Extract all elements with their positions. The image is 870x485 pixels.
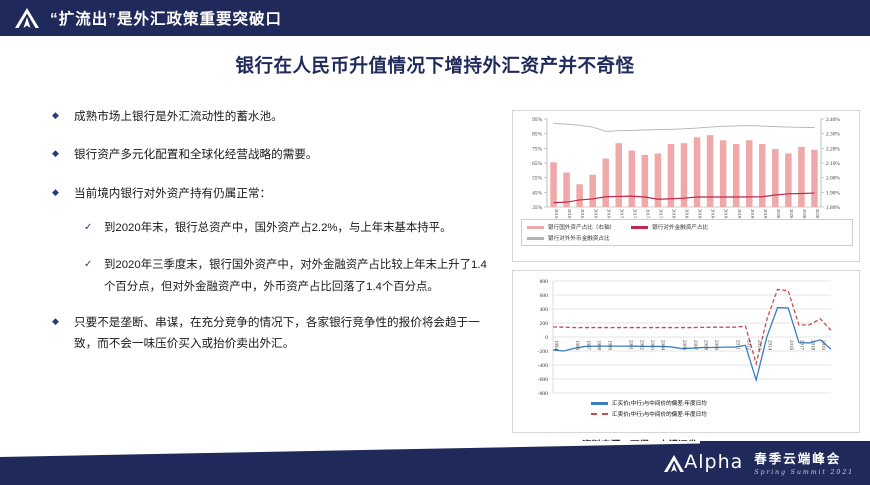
svg-text:2007: 2007 [692,340,697,351]
svg-text:1994: 1994 [553,340,558,351]
footer-wedge-decoration [0,441,700,457]
sub-bullet-text: 到2020年末，银行总资产中，国外资产占2.2%，与上年末基本持平。 [104,217,492,239]
bullet-item: ◆ 成熟市场上银行是外汇流动性的蓄水池。 [52,106,492,127]
svg-text:2017: 2017 [799,340,804,351]
brand-cn-subtitle: Spring Summit 2021 [754,468,854,476]
svg-text:2011: 2011 [735,340,740,350]
svg-text:2.00%: 2.00% [826,176,840,182]
svg-text:1.90%: 1.90% [826,190,840,196]
svg-text:95%: 95% [532,117,542,123]
svg-text:2004: 2004 [660,340,665,351]
svg-text:800: 800 [540,279,549,285]
svg-text:2016: 2016 [788,340,793,351]
legend-row: 汇卖价(中行)与中间价的偏差:年度日均 [591,410,707,418]
header-title: “扩流出”是外汇政策重要突破口 [50,7,282,29]
legend-swatch-solid-blue [591,402,608,405]
bullet-item: ◆ 当前境内银行对外资产持有仍属正常： [52,183,492,204]
svg-text:2018: 2018 [809,340,814,351]
bullet-item: ◆ 只要不是垄断、串谋，在充分竞争的情况下，各家银行竞争性的报价将会趋于一致，而… [52,312,492,355]
svg-text:-800: -800 [538,391,548,397]
svg-text:2.30%: 2.30% [826,132,840,138]
chart-bottom: 8006004002000-200-400-600-80019941996199… [512,270,860,433]
bullet-text: 银行资产多元化配置和全球化经营战略的需要。 [74,144,492,165]
check-bullet-icon: ✓ [84,217,104,238]
svg-text:1996: 1996 [574,340,579,351]
legend-label: 汇卖价(中行)与中间价的偏差:年度日均 [612,410,707,418]
svg-text:400: 400 [540,307,549,313]
content-body: ◆ 成熟市场上银行是外汇流动性的蓄水池。 ◆ 银行资产多元化配置和全球化经营战略… [52,106,492,372]
svg-text:2012: 2012 [745,340,750,351]
legend-label: 汇买价(中行)与中间价的偏差:年度日均 [612,399,707,407]
svg-text:2003: 2003 [649,340,654,351]
svg-text:1998: 1998 [596,340,601,351]
svg-text:2.40%: 2.40% [826,117,840,123]
brand-cn-block: 春季云端峰会 Spring Summit 2021 [754,448,854,476]
brand-alpha-logo: Alpha [663,451,745,473]
legend-label: 银行国外资产占比（右轴） [548,223,615,231]
legend-swatch-line-gray [527,237,544,240]
svg-text:200: 200 [540,321,549,327]
legend-swatch-dashed-red [591,413,608,415]
svg-text:2009: 2009 [713,340,718,351]
footer-brand: Alpha 春季云端峰会 Spring Summit 2021 [663,448,854,476]
sub-bullet-item: ✓ 到2020年三季度末，银行国外资产中，对外金融资产占比较上年末上升了1.4个… [84,254,492,298]
chart-top-legend: 银行国外资产占比（右轴） 银行对外金融资产占比 银行对外外币金融资占比 [521,219,853,246]
slide-footer: Alpha 春季云端峰会 Spring Summit 2021 [0,441,870,485]
svg-text:2019: 2019 [820,340,825,351]
svg-text:2014: 2014 [767,340,772,351]
svg-text:2013: 2013 [756,340,761,351]
slide-header: “扩流出”是外汇政策重要突破口 [0,0,870,36]
diamond-bullet-icon: ◆ [52,106,74,124]
svg-text:0: 0 [545,335,548,341]
svg-text:2.20%: 2.20% [826,146,840,152]
sub-bullet-list: ✓ 到2020年末，银行总资产中，国外资产占2.2%，与上年末基本持平。 ✓ 到… [84,217,492,298]
svg-text:2008: 2008 [702,340,707,351]
svg-text:2002: 2002 [638,340,643,351]
sub-bullet-item: ✓ 到2020年末，银行总资产中，国外资产占2.2%，与上年末基本持平。 [84,217,492,239]
svg-text:45%: 45% [532,190,542,196]
diamond-bullet-icon: ◆ [52,312,74,330]
svg-text:2001: 2001 [628,340,633,351]
chart-top: 95%85%75%65%55%45%35%2.40%2.30%2.20%2.10… [512,110,860,262]
svg-text:65%: 65% [532,161,542,167]
svg-text:-400: -400 [538,363,548,369]
bullet-item: ◆ 银行资产多元化配置和全球化经营战略的需要。 [52,144,492,165]
svg-text:1997: 1997 [585,340,590,351]
legend-label: 银行对外金融资产占比 [652,223,708,231]
svg-text:1.80%: 1.80% [826,205,840,211]
check-bullet-icon: ✓ [84,254,104,275]
diamond-bullet-icon: ◆ [52,144,74,162]
page-title: 银行在人民币升值情况下增持外汇资产并不奇怪 [0,52,870,78]
svg-text:35%: 35% [532,205,542,211]
svg-text:2.10%: 2.10% [826,161,840,167]
alpha-peak-icon [663,453,685,473]
legend-row: 银行国外资产占比（右轴） 银行对外金融资产占比 [527,223,847,231]
legend-row: 银行对外外币金融资占比 [527,234,847,242]
diamond-bullet-icon: ◆ [52,183,74,201]
svg-text:1999: 1999 [606,340,611,351]
svg-text:75%: 75% [532,146,542,152]
brand-cn-title: 春季云端峰会 [754,448,854,467]
svg-text:-600: -600 [538,377,548,383]
svg-text:600: 600 [540,293,549,299]
svg-text:-200: -200 [538,349,548,355]
bullet-text: 当前境内银行对外资产持有仍属正常： [74,183,492,204]
chart-bottom-legend: 汇买价(中行)与中间价的偏差:年度日均 汇卖价(中行)与中间价的偏差:年度日均 [591,399,707,418]
legend-row: 汇买价(中行)与中间价的偏差:年度日均 [591,399,707,407]
svg-text:55%: 55% [532,176,542,182]
brand-alpha-text: Alpha [684,451,743,473]
bullet-text: 成熟市场上银行是外汇流动性的蓄水池。 [74,106,492,127]
legend-label: 银行对外外币金融资占比 [548,234,610,242]
charts-column: 95%85%75%65%55%45%35%2.40%2.30%2.20%2.10… [512,110,860,433]
legend-swatch-line-red [631,226,648,229]
svg-text:2006: 2006 [681,340,686,351]
bullet-text: 只要不是垄断、串谋，在充分竞争的情况下，各家银行竞争性的报价将会趋于一致，而不会… [74,312,492,355]
legend-swatch-bars [527,226,544,229]
slide-root: “扩流出”是外汇政策重要突破口 银行在人民币升值情况下增持外汇资产并不奇怪 ◆ … [0,0,870,485]
svg-text:85%: 85% [532,132,542,138]
sub-bullet-text: 到2020年三季度末，银行国外资产中，对外金融资产占比较上年末上升了1.4个百分… [104,254,492,298]
alpha-peak-logo-icon [12,3,42,33]
